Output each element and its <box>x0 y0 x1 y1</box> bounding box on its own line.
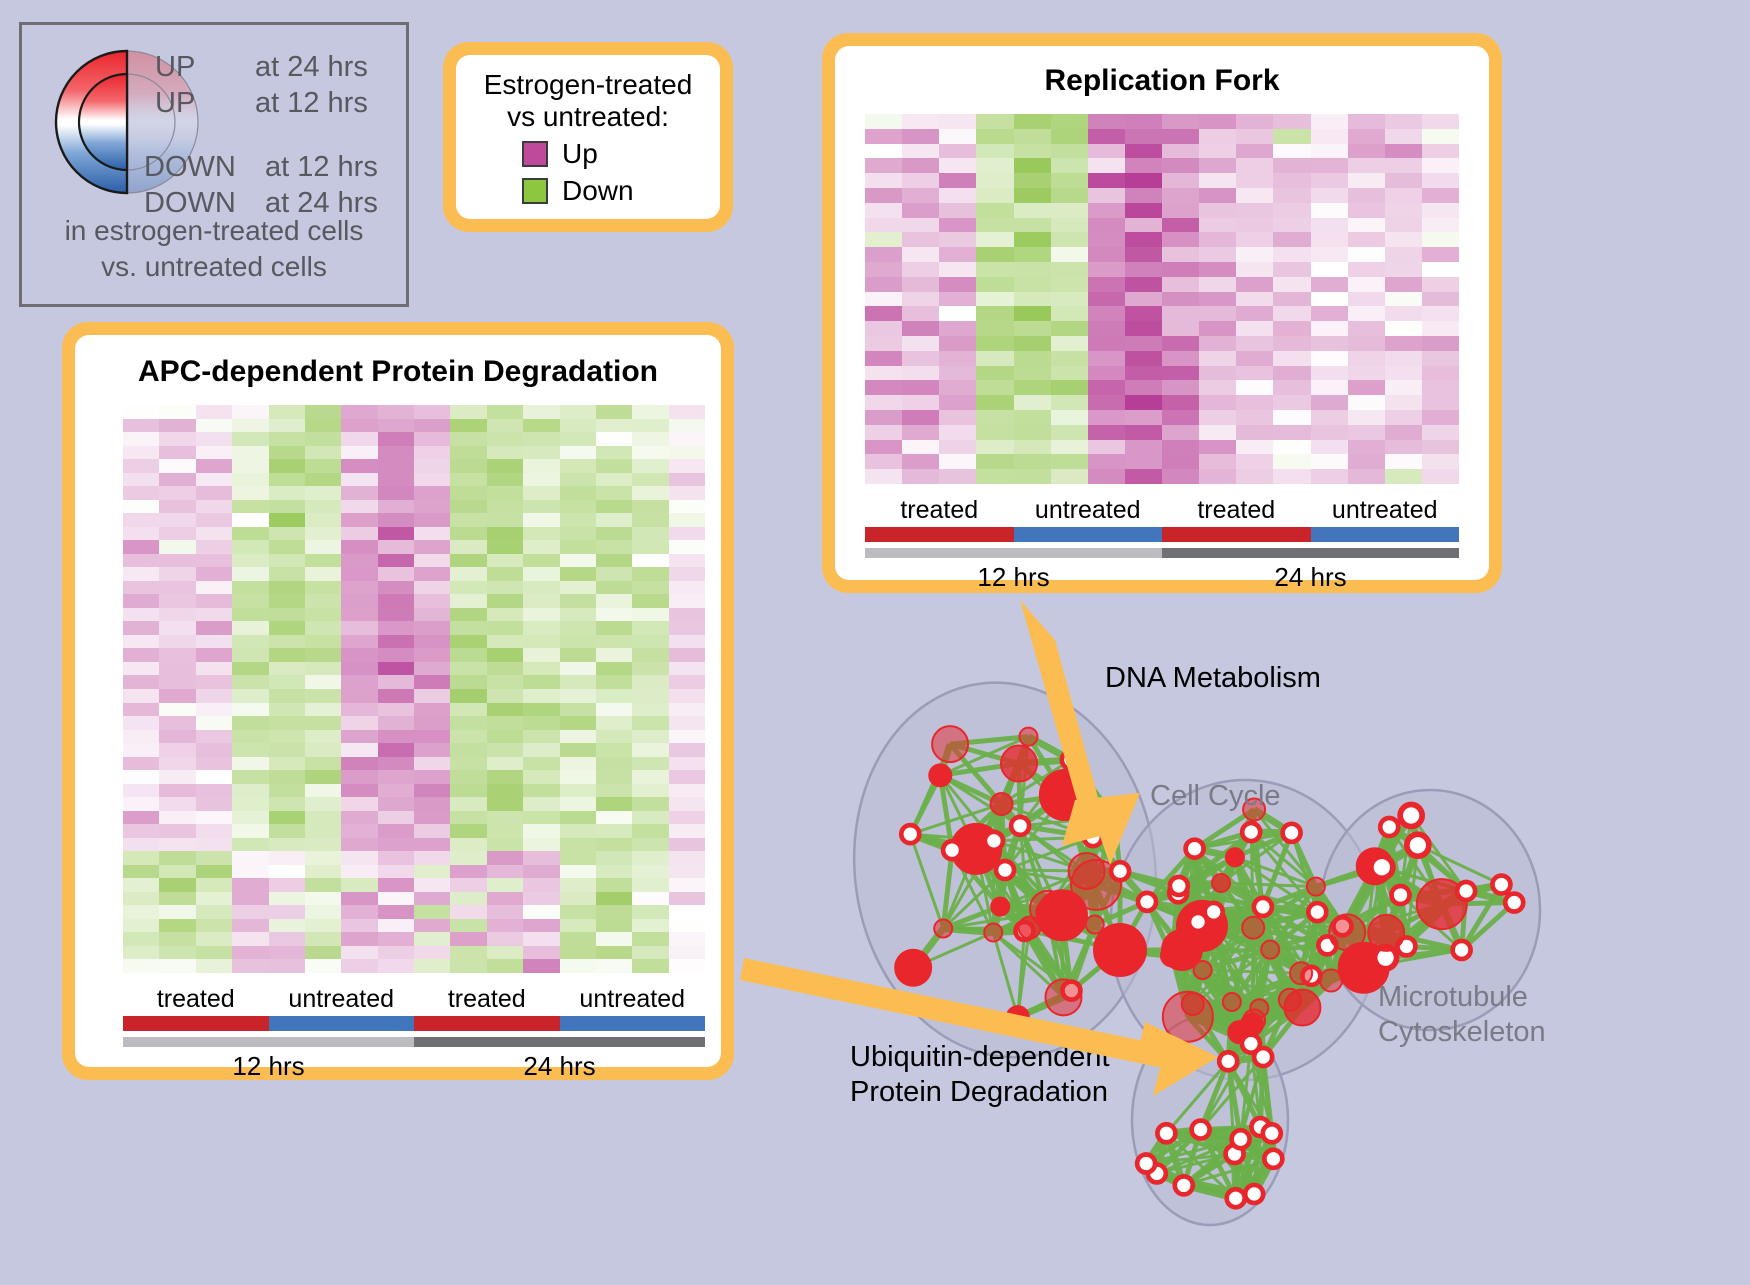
heatmap-cell <box>159 675 195 689</box>
heatmap-cell <box>1348 366 1385 381</box>
heatmap-cell <box>902 336 939 351</box>
network-node[interactable] <box>1182 993 1204 1015</box>
network-node[interactable] <box>1175 1176 1193 1194</box>
heatmap-cell <box>232 486 268 500</box>
heatmap-cell <box>487 770 523 784</box>
heatmap-cell <box>902 395 939 410</box>
heatmap-cell <box>560 594 596 608</box>
heatmap-cell <box>378 784 414 798</box>
heatmap-cell <box>976 306 1013 321</box>
heatmap-cell <box>669 919 705 933</box>
heatmap-cell <box>596 730 632 744</box>
heatmap-cell <box>1162 144 1199 159</box>
heatmap-cell <box>1014 321 1051 336</box>
heatmap-cell <box>450 432 486 446</box>
heatmap-cell <box>414 878 450 892</box>
network-node[interactable] <box>1045 979 1081 1015</box>
heatmap-cell <box>1014 114 1051 129</box>
heatmap-cell <box>1199 277 1236 292</box>
network-node[interactable] <box>1371 856 1393 878</box>
heatmap-cell <box>159 594 195 608</box>
network-node[interactable] <box>1084 828 1102 846</box>
rf-group-labels: treated untreated treated untreated <box>865 496 1459 525</box>
network-node[interactable] <box>1380 818 1398 836</box>
heatmap-cell <box>1014 129 1051 144</box>
network-node[interactable] <box>1094 924 1146 976</box>
network-node[interactable] <box>1212 874 1230 892</box>
network-node[interactable] <box>991 898 1009 916</box>
heatmap-cell <box>378 554 414 568</box>
key-caption-line1: in estrogen-treated cells <box>22 213 406 249</box>
heatmap-cell <box>450 743 486 757</box>
heatmap-cell <box>159 621 195 635</box>
heatmap-cell <box>596 689 632 703</box>
pathway-network-graph: DNA Metabolism Cell Cycle Microtubule Cy… <box>790 620 1590 1280</box>
heatmap-cell <box>1014 173 1051 188</box>
heatmap-cell <box>232 581 268 595</box>
network-node[interactable] <box>1254 898 1272 916</box>
heatmap-cell <box>450 784 486 798</box>
heatmap-cell <box>196 797 232 811</box>
heatmap-cell <box>1273 262 1310 277</box>
heatmap-cell <box>1162 380 1199 395</box>
heatmap-cell <box>269 486 305 500</box>
heatmap-cell <box>378 540 414 554</box>
heatmap-cell <box>560 662 596 676</box>
network-node[interactable] <box>1192 1121 1210 1139</box>
heatmap-cell <box>632 730 668 744</box>
heatmap-cell <box>487 757 523 771</box>
heatmap-cell <box>523 757 559 771</box>
heatmap-cell <box>305 405 341 419</box>
heatmap-cell <box>196 527 232 541</box>
heatmap-cell <box>1236 144 1273 159</box>
cluster-label-dna-metabolism: DNA Metabolism <box>1105 662 1321 695</box>
heatmap-cell <box>196 675 232 689</box>
heatmap-cell <box>1088 218 1125 233</box>
network-node[interactable] <box>1226 848 1244 866</box>
network-node[interactable] <box>1069 853 1105 889</box>
heatmap-cell <box>305 932 341 946</box>
network-node[interactable] <box>1492 876 1510 894</box>
heatmap-cell <box>1311 158 1348 173</box>
network-node[interactable] <box>1400 804 1422 826</box>
network-node[interactable] <box>1007 1006 1029 1028</box>
heatmap-cell <box>1014 336 1051 351</box>
heatmap-cell <box>560 500 596 514</box>
heatmap-cell <box>669 446 705 460</box>
network-node[interactable] <box>929 764 951 786</box>
network-node[interactable] <box>1242 823 1260 841</box>
heatmap-cell <box>1348 144 1385 159</box>
heatmap-cell <box>1236 292 1273 307</box>
heatmap-cell <box>1422 440 1459 455</box>
heatmap-cell <box>976 144 1013 159</box>
heatmap-cell <box>341 743 377 757</box>
heatmap-cell <box>123 892 159 906</box>
heatmap-cell <box>378 770 414 784</box>
heatmap-cell <box>196 608 232 622</box>
network-node[interactable] <box>1223 993 1241 1011</box>
heatmap-cell <box>159 784 195 798</box>
heatmap-cell <box>902 232 939 247</box>
heatmap-cell <box>560 757 596 771</box>
network-node[interactable] <box>1105 807 1123 825</box>
network-node[interactable] <box>1457 882 1475 900</box>
heatmap-cell <box>523 730 559 744</box>
network-node[interactable] <box>996 861 1014 879</box>
heatmap-cell <box>305 689 341 703</box>
heatmap-cell <box>159 919 195 933</box>
heatmap-cell <box>305 851 341 865</box>
heatmap-cell <box>378 689 414 703</box>
network-node[interactable] <box>1001 746 1037 782</box>
heatmap-cell <box>123 932 159 946</box>
heatmap-cell <box>196 581 232 595</box>
heatmap-cell <box>596 878 632 892</box>
heatmap-cell <box>1348 440 1385 455</box>
network-node[interactable] <box>985 832 1003 850</box>
heatmap-cell <box>450 675 486 689</box>
heatmap-cell <box>523 797 559 811</box>
heatmap-cell <box>632 567 668 581</box>
heatmap-cell <box>865 366 902 381</box>
heatmap-cell <box>669 730 705 744</box>
heatmap-cell <box>560 838 596 852</box>
heatmap-cell <box>1051 454 1088 469</box>
network-node[interactable] <box>1505 894 1523 912</box>
heatmap-cell <box>1051 218 1088 233</box>
heatmap-cell <box>1273 440 1310 455</box>
heatmap-cell <box>669 486 705 500</box>
heatmap-cell <box>1199 247 1236 262</box>
network-node[interactable] <box>1264 1150 1282 1168</box>
network-node[interactable] <box>1261 941 1279 959</box>
heatmap-cell <box>1014 306 1051 321</box>
heatmap-cell <box>1385 232 1422 247</box>
heatmap-cell <box>1311 114 1348 129</box>
heatmap-cell <box>1125 144 1162 159</box>
heatmap-cell <box>596 919 632 933</box>
apc-time-24: 24 hrs <box>414 1051 705 1082</box>
heatmap-cell <box>1051 469 1088 484</box>
network-node[interactable] <box>1232 1130 1250 1148</box>
heatmap-cell <box>669 946 705 960</box>
heatmap-cell <box>632 892 668 906</box>
heatmap-cell <box>1162 410 1199 425</box>
network-node[interactable] <box>1019 728 1037 746</box>
heatmap-cell <box>560 554 596 568</box>
heatmap-cell <box>669 878 705 892</box>
network-node[interactable] <box>1062 751 1080 769</box>
heatmap-cell <box>1422 454 1459 469</box>
heatmap-cell <box>305 730 341 744</box>
heatmap-cell <box>159 405 195 419</box>
network-node[interactable] <box>1040 770 1090 820</box>
heatmap-cell <box>196 811 232 825</box>
network-node[interactable] <box>1453 941 1471 959</box>
heatmap-cell <box>487 459 523 473</box>
heatmap-cell <box>632 865 668 879</box>
heatmap-cell <box>1311 173 1348 188</box>
heatmap-cell <box>939 351 976 366</box>
heatmap-cell <box>1199 380 1236 395</box>
heatmap-cell <box>232 621 268 635</box>
heatmap-cell <box>632 959 668 973</box>
heatmap-cell <box>269 905 305 919</box>
heatmap-cell <box>378 851 414 865</box>
heatmap-cell <box>269 959 305 973</box>
heatmap-cell <box>487 716 523 730</box>
heatmap-cell <box>596 500 632 514</box>
heatmap-cell <box>1162 158 1199 173</box>
heatmap-cell <box>939 292 976 307</box>
heatmap-cell <box>976 454 1013 469</box>
heatmap-cell <box>1273 351 1310 366</box>
heatmap-cell <box>487 838 523 852</box>
heatmap-cell <box>487 540 523 554</box>
heatmap-cell <box>123 838 159 852</box>
heatmap-cell <box>1088 425 1125 440</box>
heatmap-cell <box>902 114 939 129</box>
heatmap-cell <box>1385 395 1422 410</box>
network-node[interactable] <box>1137 1154 1155 1172</box>
heatmap-cell <box>669 662 705 676</box>
network-node[interactable] <box>1170 877 1188 895</box>
network-node[interactable] <box>984 923 1002 941</box>
heatmap-cell <box>939 469 976 484</box>
heatmap-cell <box>1273 425 1310 440</box>
heatmap-cell <box>232 824 268 838</box>
heatmap-cell <box>976 380 1013 395</box>
heatmap-cell <box>450 878 486 892</box>
heatmap-cell <box>1311 395 1348 410</box>
heatmap-cell <box>1311 218 1348 233</box>
heatmap-cell <box>865 277 902 292</box>
heatmap-cell <box>1199 232 1236 247</box>
network-node[interactable] <box>943 841 961 859</box>
heatmap-cell <box>1051 410 1088 425</box>
network-node[interactable] <box>1111 862 1129 880</box>
heatmap-cell <box>632 919 668 933</box>
heatmap-cell <box>560 675 596 689</box>
network-node[interactable] <box>1245 1185 1263 1203</box>
apc-degradation-panel: APC-dependent Protein Degradation treate… <box>62 322 734 1080</box>
heatmap-cell <box>269 594 305 608</box>
network-node[interactable] <box>1227 1189 1245 1207</box>
heatmap-cell <box>305 838 341 852</box>
heatmap-cell <box>1348 247 1385 262</box>
heatmap-cell <box>159 932 195 946</box>
heatmap-cell <box>902 380 939 395</box>
heatmap-cell <box>523 770 559 784</box>
heatmap-cell <box>196 743 232 757</box>
heatmap-cell <box>341 527 377 541</box>
network-node[interactable] <box>1011 817 1029 835</box>
heatmap-cell <box>1088 277 1125 292</box>
heatmap-cell <box>232 838 268 852</box>
heatmap-cell <box>669 621 705 635</box>
heatmap-cell <box>939 306 976 321</box>
network-node[interactable] <box>1392 886 1410 904</box>
heatmap-cell <box>269 770 305 784</box>
heatmap-cell <box>159 500 195 514</box>
rf-group-2: treated <box>1162 496 1311 525</box>
network-node[interactable] <box>1368 915 1404 951</box>
heatmap-cell <box>1088 173 1125 188</box>
network-node[interactable] <box>1205 903 1223 921</box>
heatmap-cell <box>1348 262 1385 277</box>
heatmap-cell <box>669 824 705 838</box>
heatmap-cell <box>1125 351 1162 366</box>
heatmap-cell <box>123 784 159 798</box>
network-node[interactable] <box>1250 999 1268 1017</box>
heatmap-cell <box>560 851 596 865</box>
heatmap-cell <box>378 703 414 717</box>
network-node[interactable] <box>1242 917 1264 939</box>
heatmap-cell <box>196 730 232 744</box>
network-node[interactable] <box>1308 903 1326 921</box>
network-node[interactable] <box>1284 990 1320 1026</box>
network-node[interactable] <box>1219 1052 1237 1070</box>
heatmap-cell <box>939 410 976 425</box>
heatmap-cell <box>341 757 377 771</box>
heatmap-cell <box>341 581 377 595</box>
legend-down-label: Down <box>562 175 654 207</box>
heatmap-cell <box>669 932 705 946</box>
heatmap-cell <box>632 743 668 757</box>
heatmap-cell <box>232 527 268 541</box>
network-node[interactable] <box>1407 834 1429 856</box>
heatmap-cell <box>487 811 523 825</box>
network-node[interactable] <box>1307 878 1325 896</box>
heatmap-cell <box>232 675 268 689</box>
network-node[interactable] <box>1290 962 1312 984</box>
network-node[interactable] <box>1242 1035 1260 1053</box>
heatmap-cell <box>305 486 341 500</box>
heatmap-cell <box>560 486 596 500</box>
key-time-up-12: at 12 hrs <box>255 87 368 120</box>
heatmap-cell <box>976 440 1013 455</box>
network-node[interactable] <box>1162 930 1202 970</box>
heatmap-cell <box>341 919 377 933</box>
heatmap-cell <box>902 454 939 469</box>
heatmap-cell <box>560 703 596 717</box>
heatmap-cell <box>976 129 1013 144</box>
heatmap-cell <box>1088 232 1125 247</box>
heatmap-cell <box>523 932 559 946</box>
rf-group-color-bar <box>865 527 1459 542</box>
heatmap-cell <box>560 689 596 703</box>
heatmap-cell <box>378 473 414 487</box>
heatmap-cell <box>269 473 305 487</box>
heatmap-cell <box>632 419 668 433</box>
network-node[interactable] <box>1283 824 1301 842</box>
heatmap-cell <box>1236 232 1273 247</box>
network-node[interactable] <box>932 726 968 762</box>
network-node[interactable] <box>934 920 952 938</box>
heatmap-cell <box>159 540 195 554</box>
heatmap-cell <box>159 459 195 473</box>
heatmap-cell <box>414 689 450 703</box>
heatmap-cell <box>269 513 305 527</box>
heatmap-cell <box>1273 395 1310 410</box>
heatmap-cell <box>523 648 559 662</box>
heatmap-cell <box>1014 203 1051 218</box>
heatmap-cell <box>1422 277 1459 292</box>
network-node[interactable] <box>895 950 931 986</box>
heatmap-cell <box>1162 129 1199 144</box>
network-node[interactable] <box>1263 1124 1281 1142</box>
network-node[interactable] <box>901 825 919 843</box>
heatmap-cell <box>1273 247 1310 262</box>
heatmap-cell <box>976 173 1013 188</box>
heatmap-cell <box>523 662 559 676</box>
heatmap-cell <box>123 703 159 717</box>
heatmap-cell <box>305 946 341 960</box>
heatmap-cell <box>1236 366 1273 381</box>
heatmap-cell <box>596 716 632 730</box>
network-node[interactable] <box>1030 891 1066 927</box>
heatmap-cell <box>1273 321 1310 336</box>
heatmap-cell <box>1422 366 1459 381</box>
heatmap-cell <box>1199 188 1236 203</box>
heatmap-cell <box>632 811 668 825</box>
heatmap-cell <box>523 919 559 933</box>
heatmap-cell <box>865 336 902 351</box>
heatmap-cell <box>232 419 268 433</box>
network-node[interactable] <box>991 793 1013 815</box>
heatmap-cell <box>560 959 596 973</box>
heatmap-cell <box>450 513 486 527</box>
network-node[interactable] <box>1186 840 1204 858</box>
heatmap-cell <box>1162 292 1199 307</box>
heatmap-cell <box>123 513 159 527</box>
heatmap-cell <box>560 581 596 595</box>
heatmap-cell <box>159 446 195 460</box>
heatmap-cell <box>632 851 668 865</box>
heatmap-cell <box>1236 440 1273 455</box>
heatmap-cell <box>1125 188 1162 203</box>
heatmap-cell <box>159 635 195 649</box>
heatmap-cell <box>523 567 559 581</box>
network-node[interactable] <box>1138 893 1156 911</box>
network-node[interactable] <box>1329 914 1365 950</box>
heatmap-cell <box>1162 232 1199 247</box>
heatmap-cell <box>632 540 668 554</box>
heatmap-cell <box>232 405 268 419</box>
heatmap-cell <box>487 648 523 662</box>
heatmap-cell <box>560 405 596 419</box>
heatmap-cell <box>939 336 976 351</box>
network-node[interactable] <box>1157 1124 1175 1142</box>
heatmap-cell <box>1088 336 1125 351</box>
heatmap-cell <box>1348 129 1385 144</box>
heatmap-cell <box>1014 395 1051 410</box>
apc-bar-treated-12 <box>123 1016 269 1031</box>
heatmap-cell <box>1162 425 1199 440</box>
heatmap-cell <box>1162 114 1199 129</box>
heatmap-cell <box>596 486 632 500</box>
heatmap-cell <box>1385 469 1422 484</box>
heatmap-cell <box>1273 158 1310 173</box>
heatmap-cell <box>487 689 523 703</box>
heatmap-cell <box>1422 425 1459 440</box>
heatmap-cell <box>1348 410 1385 425</box>
heatmap-cell <box>865 232 902 247</box>
heatmap-cell <box>196 757 232 771</box>
heatmap-cell <box>305 892 341 906</box>
